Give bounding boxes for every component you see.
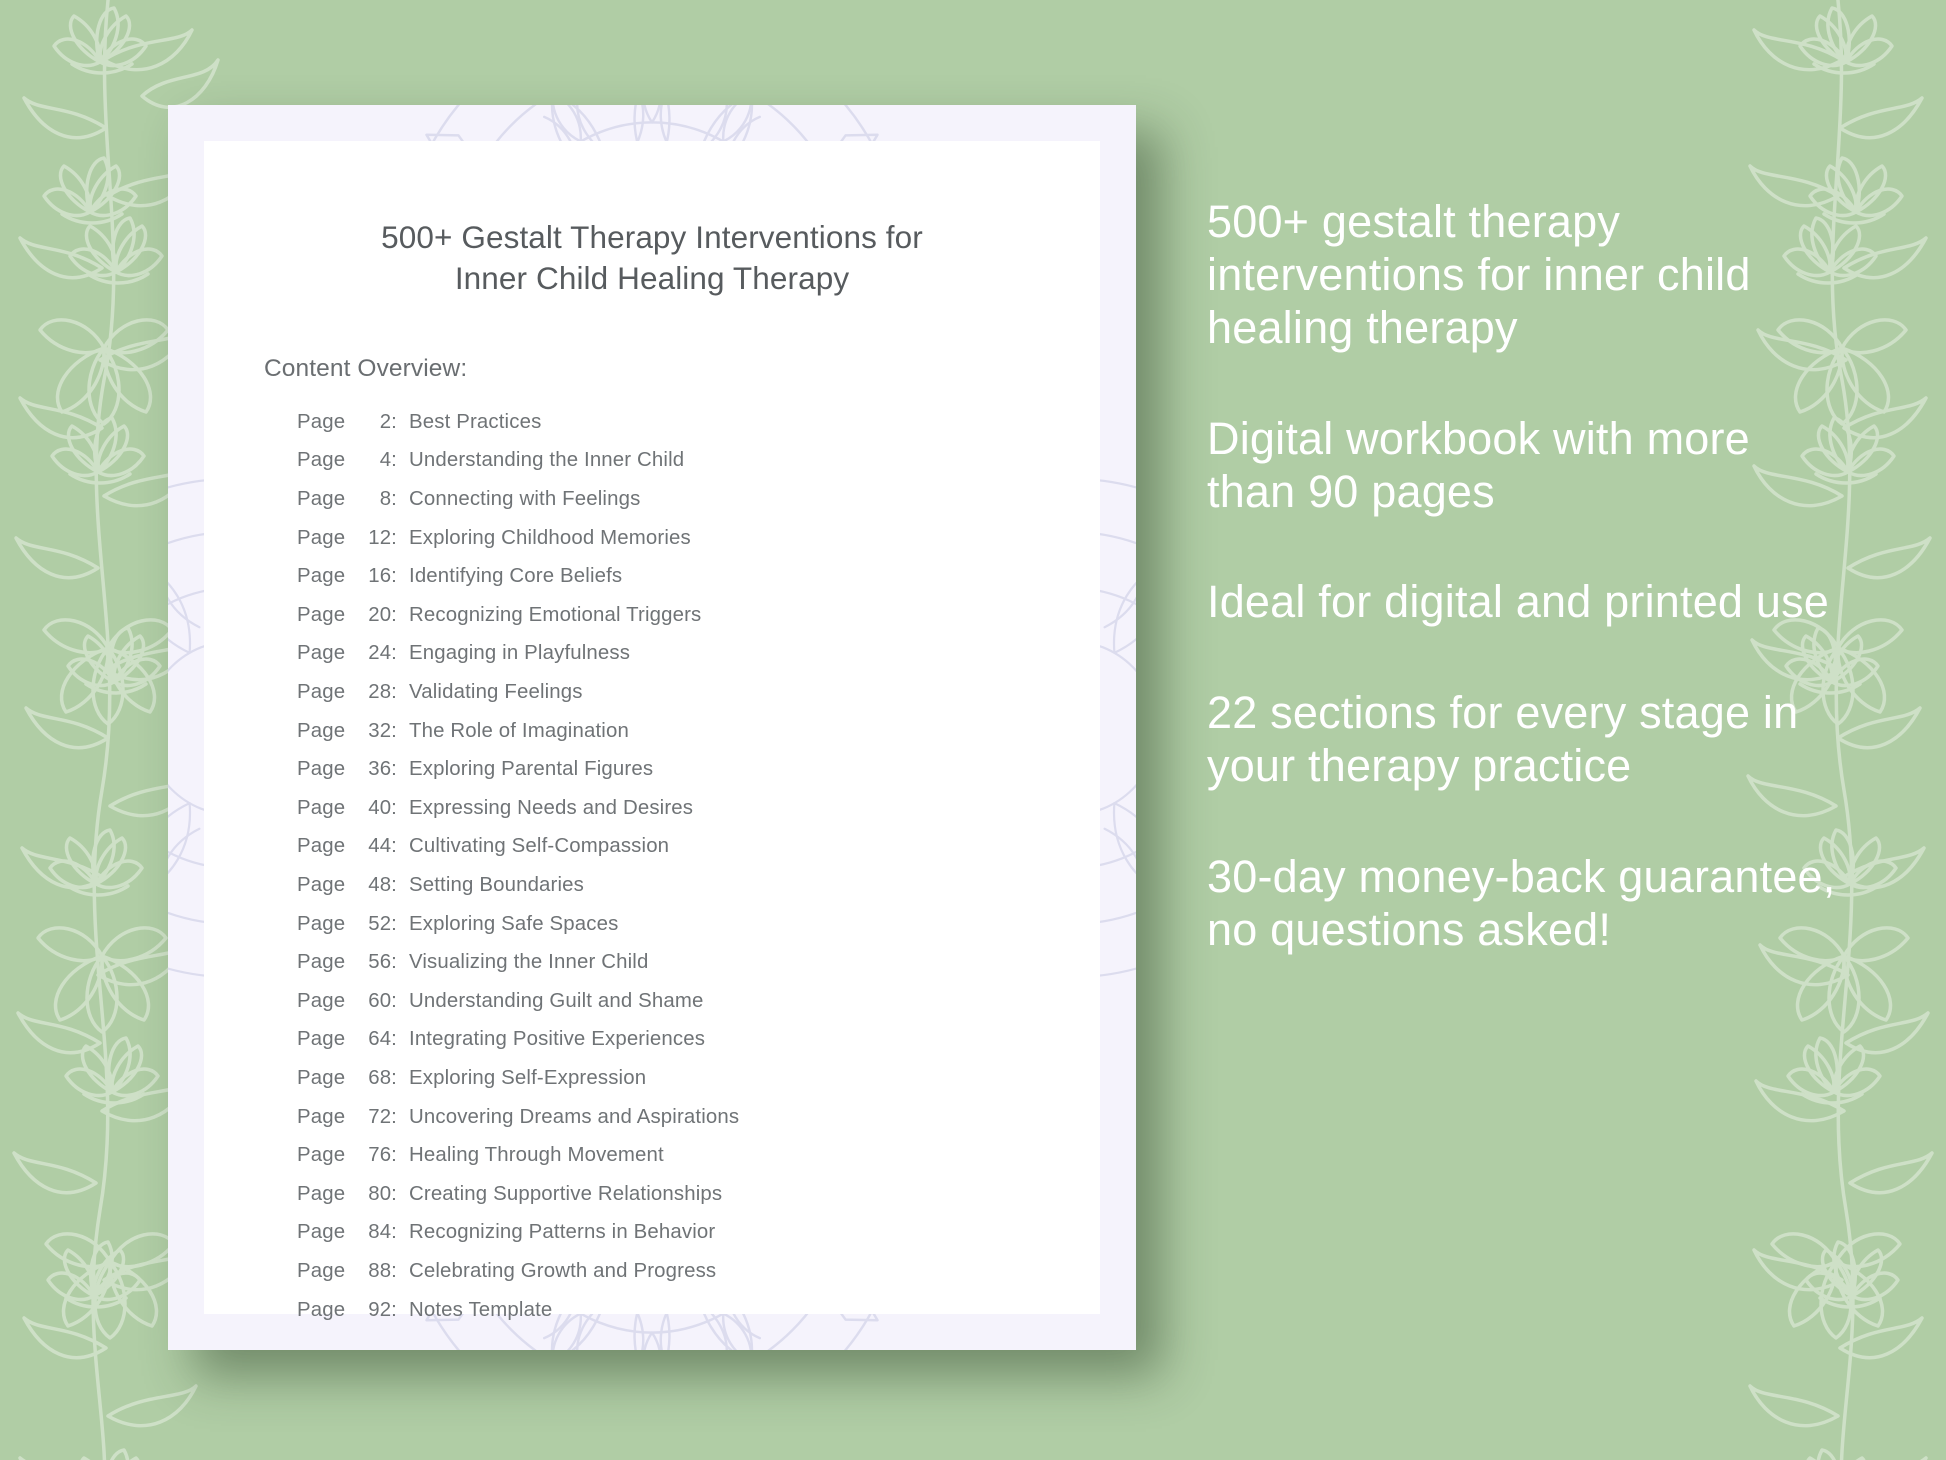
toc-section-title: The Role of Imagination	[397, 720, 1040, 743]
table-of-contents-row: Page24:Engaging in Playfulness	[297, 642, 1040, 665]
toc-page-number: 28:	[357, 681, 397, 704]
toc-section-title: Connecting with Feelings	[397, 488, 1040, 511]
toc-section-title: Recognizing Patterns in Behavior	[397, 1221, 1040, 1244]
toc-page-number: 80:	[357, 1183, 397, 1206]
promo-column: 500+ gestalt therapy interventions for i…	[1207, 196, 1847, 957]
toc-page-number: 76:	[357, 1144, 397, 1167]
table-of-contents-row: Page44:Cultivating Self-Compassion	[297, 835, 1040, 858]
toc-page-word: Page	[297, 990, 357, 1013]
toc-page-word: Page	[297, 565, 357, 588]
toc-section-title: Healing Through Movement	[397, 1144, 1040, 1167]
toc-page-word: Page	[297, 1028, 357, 1051]
toc-page-number: 8:	[357, 488, 397, 511]
table-of-contents-row: Page4:Understanding the Inner Child	[297, 449, 1040, 472]
table-of-contents-row: Page92:Notes Template	[297, 1299, 1040, 1322]
toc-section-title: Setting Boundaries	[397, 874, 1040, 897]
toc-page-number: 68:	[357, 1067, 397, 1090]
page-title-line-1: 500+ Gestalt Therapy Interventions for	[381, 219, 923, 255]
toc-page-word: Page	[297, 1299, 357, 1322]
toc-page-number: 48:	[357, 874, 397, 897]
table-of-contents-row: Page56:Visualizing the Inner Child	[297, 951, 1040, 974]
promo-text-block: 30-day money-back guarantee, no question…	[1207, 851, 1847, 957]
toc-page-word: Page	[297, 681, 357, 704]
product-preview-card: 500+ Gestalt Therapy Interventions for I…	[168, 105, 1136, 1350]
toc-section-title: Uncovering Dreams and Aspirations	[397, 1106, 1040, 1129]
toc-page-word: Page	[297, 1144, 357, 1167]
toc-page-word: Page	[297, 1221, 357, 1244]
toc-page-number: 64:	[357, 1028, 397, 1051]
toc-page-number: 4:	[357, 449, 397, 472]
toc-page-word: Page	[297, 1183, 357, 1206]
table-of-contents-row: Page12:Exploring Childhood Memories	[297, 527, 1040, 550]
toc-page-number: 20:	[357, 604, 397, 627]
toc-page-word: Page	[297, 797, 357, 820]
toc-section-title: Exploring Safe Spaces	[397, 913, 1040, 936]
toc-page-word: Page	[297, 604, 357, 627]
table-of-contents-row: Page48:Setting Boundaries	[297, 874, 1040, 897]
table-of-contents-row: Page16:Identifying Core Beliefs	[297, 565, 1040, 588]
toc-page-word: Page	[297, 951, 357, 974]
toc-section-title: Integrating Positive Experiences	[397, 1028, 1040, 1051]
toc-page-number: 60:	[357, 990, 397, 1013]
toc-page-number: 56:	[357, 951, 397, 974]
promo-text-block: 22 sections for every stage in your ther…	[1207, 687, 1847, 793]
table-of-contents-row: Page2:Best Practices	[297, 411, 1040, 434]
toc-section-title: Validating Feelings	[397, 681, 1040, 704]
toc-page-number: 32:	[357, 720, 397, 743]
table-of-contents-row: Page84:Recognizing Patterns in Behavior	[297, 1221, 1040, 1244]
table-of-contents-row: Page68:Exploring Self-Expression	[297, 1067, 1040, 1090]
toc-page-number: 40:	[357, 797, 397, 820]
table-of-contents-row: Page36:Exploring Parental Figures	[297, 758, 1040, 781]
toc-page-word: Page	[297, 758, 357, 781]
toc-page-word: Page	[297, 835, 357, 858]
table-of-contents-row: Page76:Healing Through Movement	[297, 1144, 1040, 1167]
toc-section-title: Exploring Self-Expression	[397, 1067, 1040, 1090]
toc-page-number: 88:	[357, 1260, 397, 1283]
toc-page-number: 12:	[357, 527, 397, 550]
page-title: 500+ Gestalt Therapy Interventions for I…	[342, 203, 962, 299]
toc-section-title: Expressing Needs and Desires	[397, 797, 1040, 820]
toc-section-title: Identifying Core Beliefs	[397, 565, 1040, 588]
table-of-contents-row: Page52:Exploring Safe Spaces	[297, 913, 1040, 936]
toc-page-word: Page	[297, 720, 357, 743]
table-of-contents-row: Page28:Validating Feelings	[297, 681, 1040, 704]
content-overview-label: Content Overview:	[264, 355, 1040, 383]
toc-section-title: Recognizing Emotional Triggers	[397, 604, 1040, 627]
table-of-contents-row: Page60:Understanding Guilt and Shame	[297, 990, 1040, 1013]
table-of-contents-row: Page80:Creating Supportive Relationships	[297, 1183, 1040, 1206]
table-of-contents: Page2:Best PracticesPage4:Understanding …	[264, 411, 1040, 1322]
toc-page-word: Page	[297, 874, 357, 897]
toc-section-title: Exploring Parental Figures	[397, 758, 1040, 781]
toc-section-title: Visualizing the Inner Child	[397, 951, 1040, 974]
table-of-contents-row: Page20:Recognizing Emotional Triggers	[297, 604, 1040, 627]
toc-page-number: 24:	[357, 642, 397, 665]
toc-page-word: Page	[297, 913, 357, 936]
toc-section-title: Engaging in Playfulness	[397, 642, 1040, 665]
toc-page-word: Page	[297, 449, 357, 472]
page-title-line-2: Inner Child Healing Therapy	[455, 260, 849, 296]
toc-page-number: 52:	[357, 913, 397, 936]
toc-page-word: Page	[297, 527, 357, 550]
toc-page-number: 92:	[357, 1299, 397, 1322]
table-of-contents-row: Page8:Connecting with Feelings	[297, 488, 1040, 511]
promo-text-block: 500+ gestalt therapy interventions for i…	[1207, 196, 1847, 355]
toc-page-word: Page	[297, 1106, 357, 1129]
toc-section-title: Best Practices	[397, 411, 1040, 434]
table-of-contents-row: Page64:Integrating Positive Experiences	[297, 1028, 1040, 1051]
toc-page-number: 72:	[357, 1106, 397, 1129]
toc-section-title: Celebrating Growth and Progress	[397, 1260, 1040, 1283]
promo-text-block: Digital workbook with more than 90 pages	[1207, 413, 1847, 519]
toc-page-number: 36:	[357, 758, 397, 781]
toc-section-title: Exploring Childhood Memories	[397, 527, 1040, 550]
toc-section-title: Cultivating Self-Compassion	[397, 835, 1040, 858]
toc-page-number: 2:	[357, 411, 397, 434]
toc-page-number: 84:	[357, 1221, 397, 1244]
table-of-contents-row: Page88:Celebrating Growth and Progress	[297, 1260, 1040, 1283]
toc-section-title: Understanding the Inner Child	[397, 449, 1040, 472]
card-frame: 500+ Gestalt Therapy Interventions for I…	[168, 105, 1136, 1350]
toc-section-title: Notes Template	[397, 1299, 1040, 1322]
promo-text-block: Ideal for digital and printed use	[1207, 576, 1847, 629]
document-page: 500+ Gestalt Therapy Interventions for I…	[204, 141, 1100, 1314]
toc-section-title: Understanding Guilt and Shame	[397, 990, 1040, 1013]
table-of-contents-row: Page32:The Role of Imagination	[297, 720, 1040, 743]
toc-page-number: 44:	[357, 835, 397, 858]
table-of-contents-row: Page72:Uncovering Dreams and Aspirations	[297, 1106, 1040, 1129]
toc-page-word: Page	[297, 642, 357, 665]
toc-page-word: Page	[297, 1260, 357, 1283]
toc-page-word: Page	[297, 488, 357, 511]
toc-page-word: Page	[297, 1067, 357, 1090]
toc-section-title: Creating Supportive Relationships	[397, 1183, 1040, 1206]
toc-page-word: Page	[297, 411, 357, 434]
toc-page-number: 16:	[357, 565, 397, 588]
table-of-contents-row: Page40:Expressing Needs and Desires	[297, 797, 1040, 820]
